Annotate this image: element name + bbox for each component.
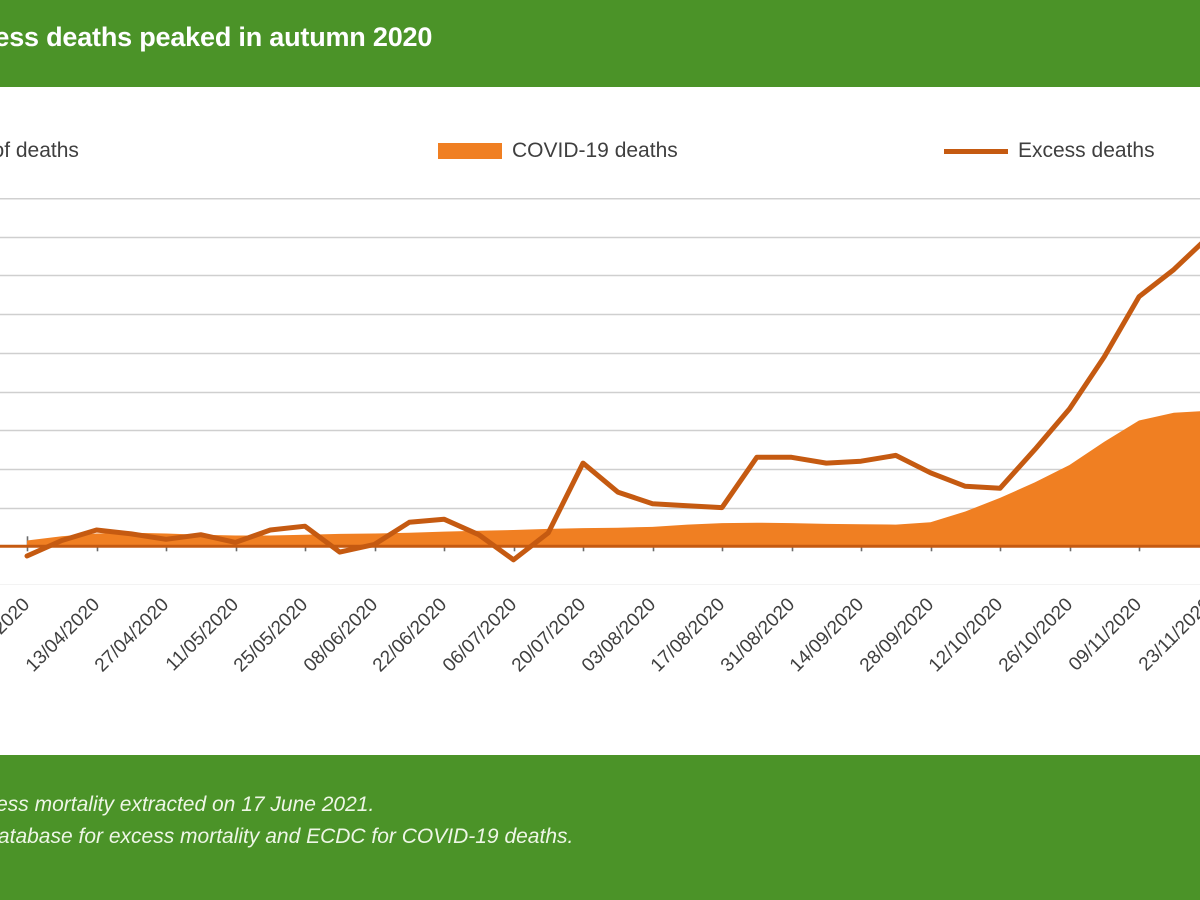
chart-footer-band: Note: Data on excess mortality extracted… (0, 755, 1200, 900)
legend-swatch-area-icon (438, 143, 502, 159)
chart-page: COVID-19 and excess deaths peaked in aut… (0, 0, 1200, 900)
legend-swatch-line-icon (944, 149, 1008, 154)
page-title: COVID-19 and excess deaths peaked in aut… (0, 22, 432, 53)
chart-card: Number of deaths COVID-19 deaths Excess … (0, 87, 1200, 755)
chart-title-band: COVID-19 and excess deaths peaked in aut… (0, 0, 1200, 87)
chart-legend: COVID-19 deaths Excess deaths (0, 135, 1200, 175)
footer-source: Source: Eurostat database for excess mor… (0, 825, 573, 849)
legend-item-excess-deaths[interactable]: Excess deaths (944, 135, 1155, 167)
footer-note: Note: Data on excess mortality extracted… (0, 793, 374, 817)
legend-label-excess: Excess deaths (1018, 139, 1155, 163)
x-axis-labels: 30/03/202013/04/202027/04/202011/05/2020… (0, 585, 1200, 755)
legend-item-covid-19-deaths[interactable]: COVID-19 deaths (438, 135, 678, 167)
plot-area (0, 198, 1200, 585)
legend-label-covid: COVID-19 deaths (512, 139, 678, 163)
chart-svg (0, 198, 1200, 585)
